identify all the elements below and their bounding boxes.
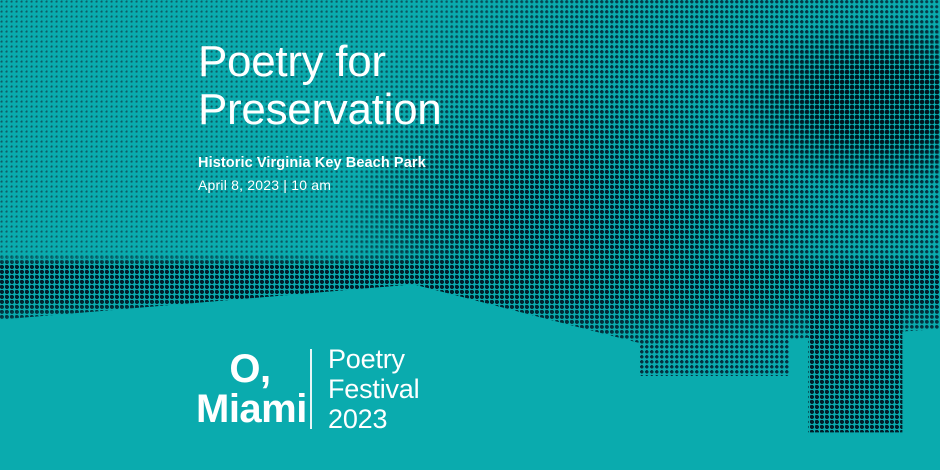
- logo-mark-line-1: O,: [196, 349, 304, 390]
- datetime-label: April 8, 2023 | 10 am: [198, 177, 331, 193]
- page-title: Poetry for Preservation: [198, 38, 441, 135]
- logo-mark-line-2: Miami: [196, 389, 304, 430]
- logo-divider-rule: [310, 349, 312, 429]
- event-poster: Poetry for Preservation Historic Virgini…: [0, 0, 940, 470]
- logo-festival-text: Poetry Festival 2023: [328, 344, 419, 435]
- o-miami-poetry-festival-logo: O, Miami Poetry Festival 2023: [196, 344, 419, 435]
- logo-wordmark: O, Miami: [196, 349, 304, 431]
- venue-label: Historic Virginia Key Beach Park: [198, 155, 426, 171]
- poster-content: Poetry for Preservation Historic Virgini…: [0, 0, 940, 470]
